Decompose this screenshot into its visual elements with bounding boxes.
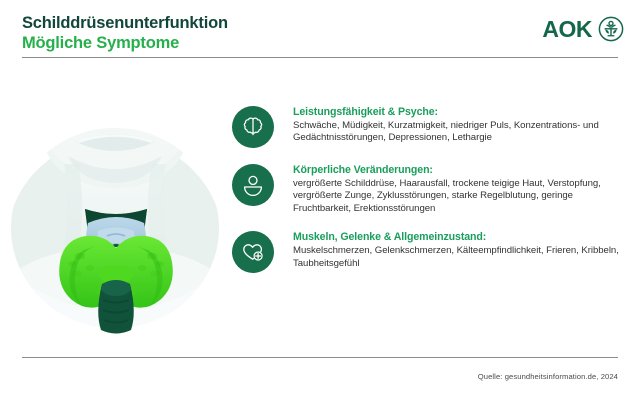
symptom-heading: Leistungsfähigkeit & Psyche: xyxy=(293,105,632,119)
symptom-heading: Körperliche Veränderungen: xyxy=(293,163,632,177)
thyroid-gland-anatomy-illustration xyxy=(2,72,234,356)
symptom-group-psyche: Leistungsfähigkeit & Psyche: Schwäche, M… xyxy=(232,104,632,148)
page-title: Schilddrüsenunterfunktion Mögliche Sympt… xyxy=(22,13,228,53)
symptom-group-body: Körperliche Veränderungen: vergrößerte S… xyxy=(232,162,632,215)
header-divider xyxy=(22,57,618,58)
aok-logo: AOK xyxy=(542,16,624,42)
symptom-body: Schwäche, Müdigkeit, Kurzatmigkeit, nied… xyxy=(293,120,632,145)
symptom-body: Muskelschmerzen, Gelenkschmerzen, Kältee… xyxy=(293,245,632,270)
symptom-text-block: Leistungsfähigkeit & Psyche: Schwäche, M… xyxy=(274,104,632,145)
symptom-list: Leistungsfähigkeit & Psyche: Schwäche, M… xyxy=(232,104,632,287)
symptom-text-block: Muskeln, Gelenke & Allgemeinzustand: Mus… xyxy=(274,229,632,270)
heart-plus-icon xyxy=(232,231,274,273)
aok-wordmark: AOK xyxy=(542,18,592,41)
page-title-secondary: Mögliche Symptome xyxy=(22,33,228,53)
symptom-group-muscles: Muskeln, Gelenke & Allgemeinzustand: Mus… xyxy=(232,229,632,273)
page-title-primary: Schilddrüsenunterfunktion xyxy=(22,13,228,33)
footer-divider xyxy=(22,357,618,358)
symptom-text-block: Körperliche Veränderungen: vergrößerte S… xyxy=(274,162,632,215)
symptom-body: vergrößerte Schilddrüse, Haarausfall, tr… xyxy=(293,178,632,215)
source-note: Quelle: gesundheitsinformation.de, 2024 xyxy=(478,372,618,381)
symptom-heading: Muskeln, Gelenke & Allgemeinzustand: xyxy=(293,230,632,244)
header: Schilddrüsenunterfunktion Mögliche Sympt… xyxy=(0,0,640,58)
brain-icon xyxy=(232,106,274,148)
person-body-icon xyxy=(232,164,274,206)
aok-lebensbaum-emblem-icon xyxy=(598,16,624,42)
